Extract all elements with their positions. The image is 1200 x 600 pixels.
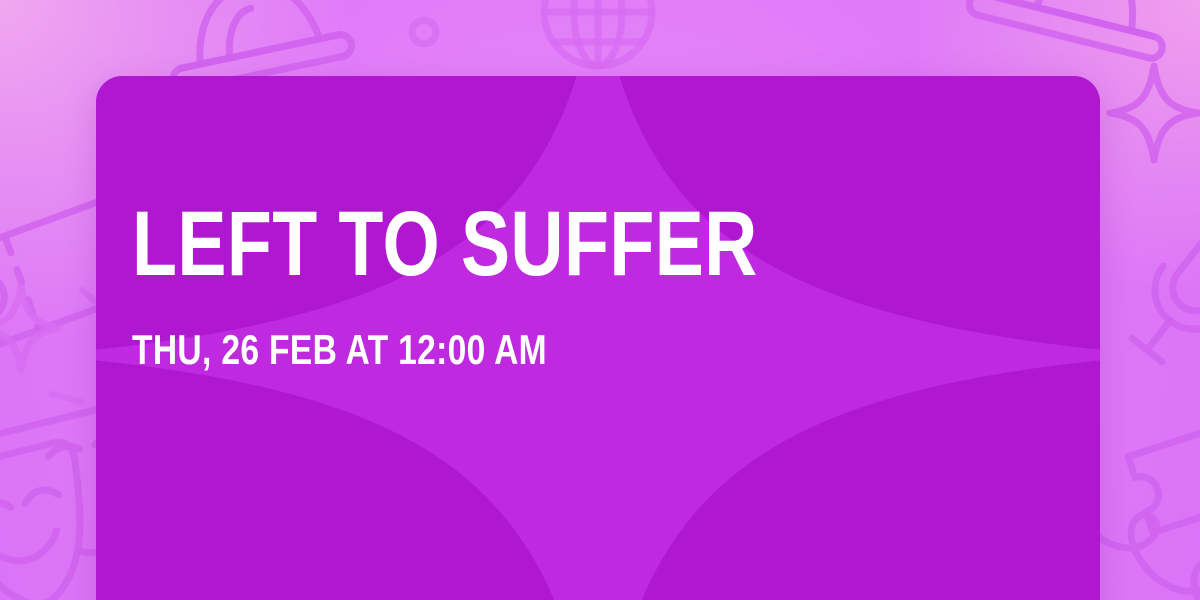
event-card-canvas: LEFT TO SUFFER THU, 26 FEB AT 12:00 AM [0, 0, 1200, 600]
event-card[interactable]: LEFT TO SUFFER THU, 26 FEB AT 12:00 AM [96, 76, 1100, 600]
event-datetime: THU, 26 FEB AT 12:00 AM [132, 287, 852, 371]
globe-icon [528, 0, 668, 82]
event-title: LEFT TO SUFFER [132, 202, 852, 287]
sparkle-star-icon [1102, 58, 1200, 168]
circle-dot-icon [404, 12, 444, 52]
event-card-text: LEFT TO SUFFER THU, 26 FEB AT 12:00 AM [132, 202, 1032, 371]
microphone-icon [1120, 220, 1200, 390]
